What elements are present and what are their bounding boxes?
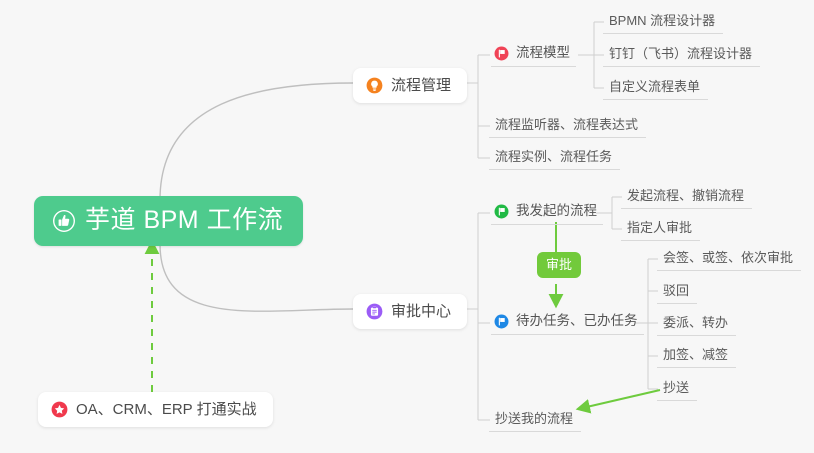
topic-my-started-processes[interactable]: 我发起的流程: [491, 201, 603, 225]
thumbs-up-icon: [52, 209, 76, 233]
leaf-delegate-transfer[interactable]: 委派、转办: [657, 313, 736, 336]
leaf-assignee-approval[interactable]: 指定人审批: [621, 218, 700, 241]
leaf-start-cancel-process[interactable]: 发起流程、撤销流程: [621, 186, 752, 209]
tag-approve[interactable]: 审批: [537, 252, 581, 278]
topic-process-model[interactable]: 流程模型: [491, 43, 576, 67]
leaf-add-remove-sign[interactable]: 加签、减签: [657, 345, 736, 368]
root-node[interactable]: 芋道 BPM 工作流: [34, 196, 303, 246]
topic-label: 待办任务、已办任务: [516, 314, 638, 329]
mindmap-canvas: 芋道 BPM 工作流 流程管理 审批中心: [0, 0, 814, 453]
flag-icon: [494, 46, 509, 61]
flag-icon: [494, 204, 509, 219]
clipboard-icon: [366, 303, 383, 320]
branch-label: 流程管理: [391, 78, 451, 93]
leaf-bpmn-designer[interactable]: BPMN 流程设计器: [603, 11, 723, 34]
footer-node-label: OA、CRM、ERP 打通实战: [76, 402, 257, 417]
topic-label: 流程模型: [516, 46, 570, 61]
leaf-process-listener-expression[interactable]: 流程监听器、流程表达式: [489, 115, 646, 138]
leaf-process-instance-task[interactable]: 流程实例、流程任务: [489, 147, 620, 170]
edge-root-to-process-management: [160, 83, 353, 200]
branch-label: 审批中心: [391, 304, 451, 319]
branch-approval-center[interactable]: 审批中心: [353, 294, 467, 329]
flow-arrow-cc: [578, 390, 660, 409]
leaf-cc[interactable]: 抄送: [657, 378, 697, 401]
branch-process-management[interactable]: 流程管理: [353, 68, 467, 103]
leaf-reject[interactable]: 驳回: [657, 281, 697, 304]
edge-root-to-approval-center: [160, 244, 353, 311]
leaf-custom-process-form[interactable]: 自定义流程表单: [603, 77, 708, 100]
leaf-dingtalk-feishu-designer[interactable]: 钉钉（飞书）流程设计器: [603, 44, 760, 67]
leaf-countersign-orsign-sequential[interactable]: 会签、或签、依次审批: [657, 248, 801, 271]
lightbulb-icon: [366, 77, 383, 94]
star-icon: [51, 401, 68, 418]
topic-todo-done-tasks[interactable]: 待办任务、已办任务: [491, 311, 644, 335]
root-label: 芋道 BPM 工作流: [85, 208, 283, 233]
footer-node-integration[interactable]: OA、CRM、ERP 打通实战: [38, 392, 273, 427]
flag-icon: [494, 314, 509, 329]
topic-label: 我发起的流程: [516, 204, 597, 219]
leaf-cc-my-process[interactable]: 抄送我的流程: [489, 409, 581, 432]
